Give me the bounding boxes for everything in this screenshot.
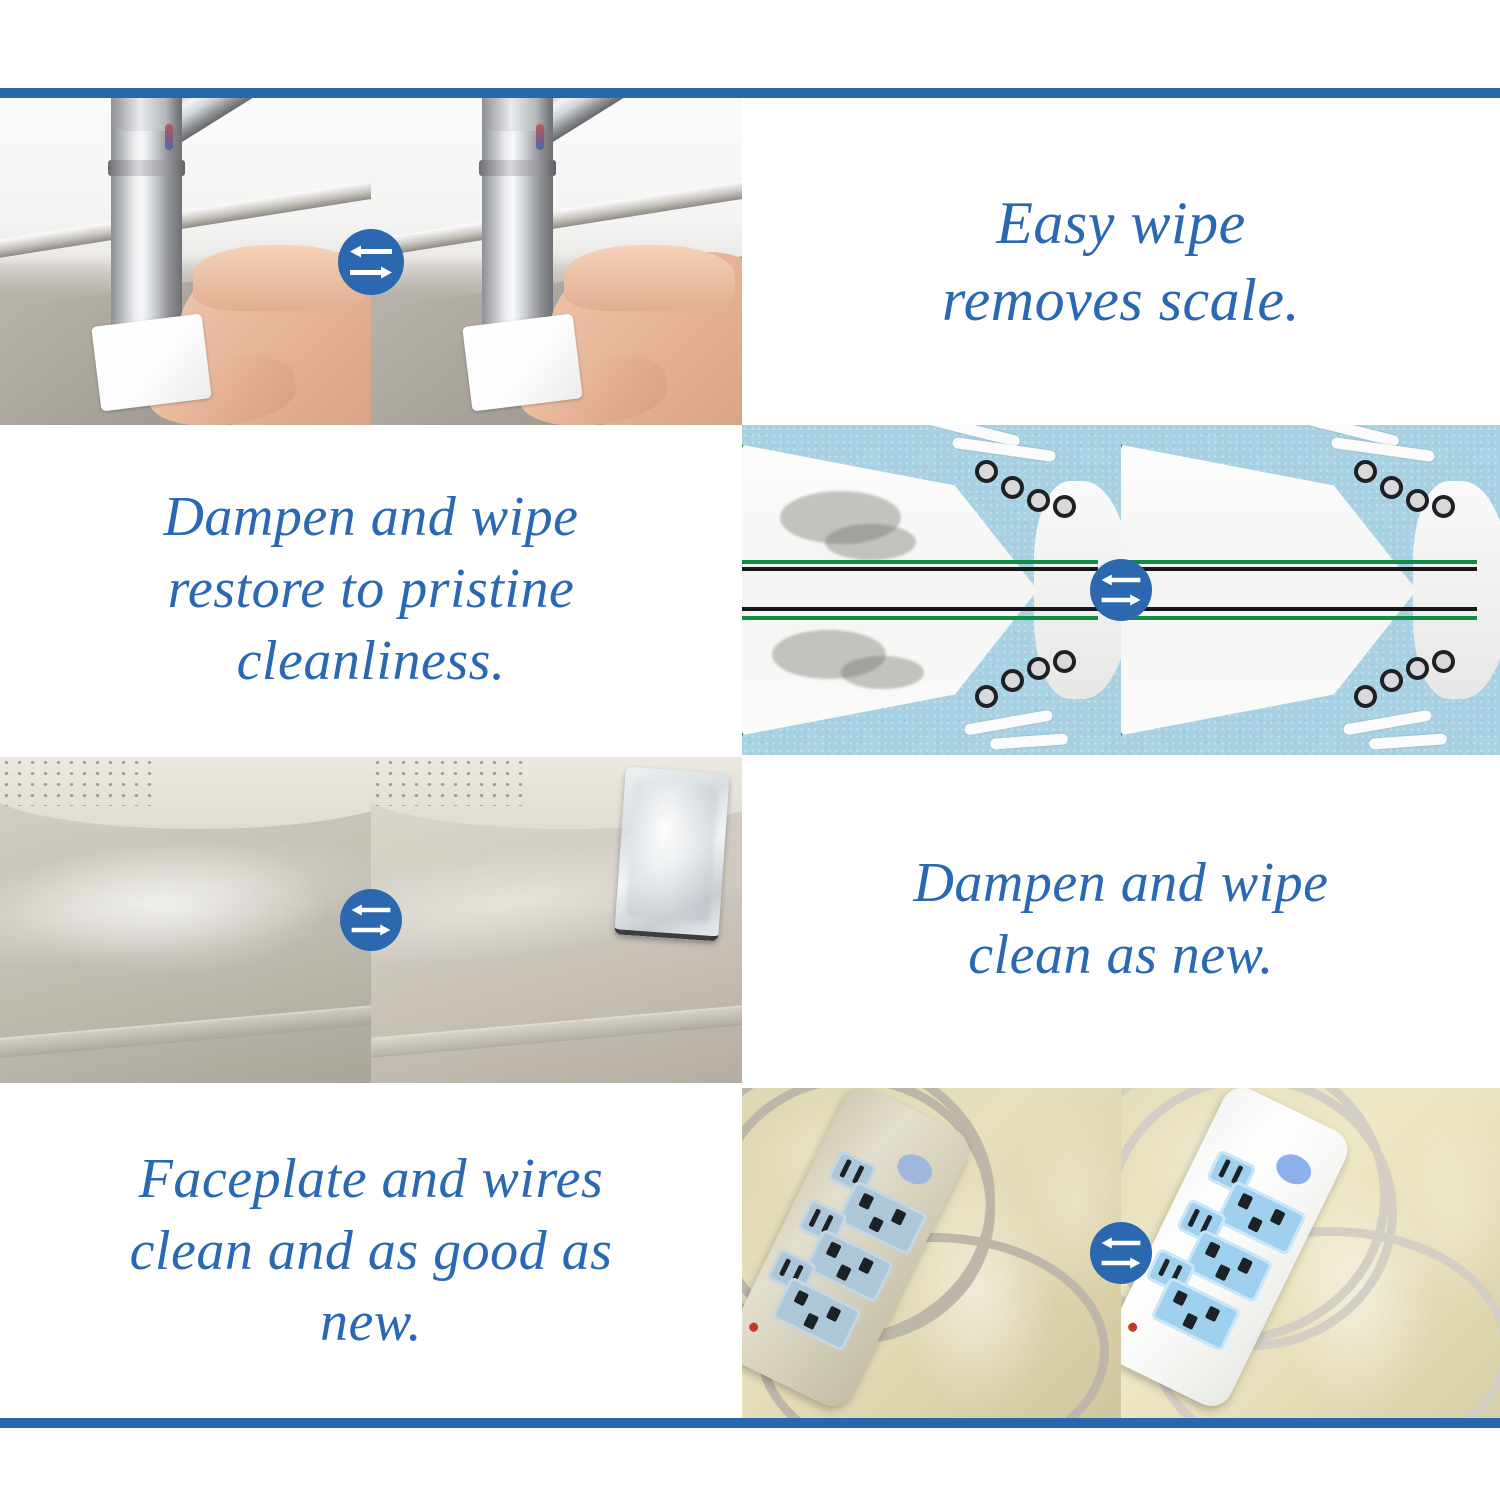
socket-pin — [1188, 1208, 1200, 1227]
leather-demo-photo — [0, 757, 742, 1083]
shoe-eyelet — [1432, 495, 1455, 518]
shoe-eyelet — [975, 460, 998, 483]
shoe-lace — [1368, 733, 1446, 749]
arrow-right-icon — [1101, 594, 1141, 606]
shoe-eyelet — [1354, 685, 1377, 708]
shoe-eyelet — [1380, 669, 1403, 692]
power-indicator-led — [747, 1321, 759, 1333]
socket-pin — [1270, 1208, 1286, 1225]
power-indicator-led — [1126, 1321, 1138, 1333]
shoe-lace — [963, 709, 1053, 735]
shoe-eyelet — [1027, 489, 1050, 512]
socket-pin — [826, 1305, 842, 1322]
caption-line: new. — [0, 1287, 742, 1359]
dampen-clean-caption: Dampen and wipe clean as new. — [742, 757, 1500, 1083]
shoe-eyelet — [1380, 476, 1403, 499]
faceplate-caption: Faceplate and wires clean and as good as… — [0, 1085, 742, 1418]
power-strip-before-half — [742, 1088, 1121, 1418]
sneaker-before-half — [742, 425, 1121, 755]
perforation-pattern — [0, 757, 156, 806]
shoe-eyelet — [1053, 650, 1076, 673]
socket-pin — [835, 1264, 851, 1281]
before-after-swap-badge — [340, 889, 402, 951]
caption-line: Dampen and wipe — [0, 482, 742, 554]
arrow-left-icon — [350, 245, 392, 258]
faucet-temperature-indicator — [165, 124, 173, 150]
bottom-accent-rule — [0, 1418, 1500, 1428]
before-after-swap-badge — [338, 229, 404, 295]
shoe-eyelet — [1027, 657, 1050, 680]
hand-knuckles — [564, 245, 735, 310]
socket-pin — [1237, 1192, 1253, 1209]
shoe-lace-group — [1348, 432, 1492, 749]
melamine-sponge — [463, 314, 584, 412]
perforation-pattern — [371, 757, 527, 806]
arrow-right-icon — [1101, 1257, 1141, 1269]
socket-pin — [1205, 1241, 1221, 1258]
socket-pin — [1205, 1305, 1221, 1322]
sneaker-demo-photo — [742, 425, 1500, 755]
shoe-eyelet — [1001, 669, 1024, 692]
caption-line: Easy wipe — [742, 185, 1500, 262]
arrow-left-icon — [1101, 574, 1141, 586]
scuff-mark — [841, 656, 924, 689]
shoe-lace — [989, 733, 1067, 749]
arrow-left-icon — [351, 904, 391, 916]
infographic-page: Easy wipe removes scale. Dampen and wipe… — [0, 0, 1500, 1500]
socket-pin — [779, 1258, 791, 1277]
socket-pin — [1182, 1312, 1198, 1329]
caption-line: Faceplate and wires — [0, 1144, 742, 1216]
top-accent-rule — [0, 88, 1500, 98]
sneaker-after-half — [1121, 425, 1500, 755]
socket-pin — [1172, 1289, 1188, 1306]
socket-pin — [1158, 1258, 1170, 1277]
socket-pin — [891, 1208, 907, 1225]
shoe-eyelet — [1406, 657, 1429, 680]
power-switch — [893, 1149, 937, 1189]
socket-pin — [793, 1289, 809, 1306]
caption-line: removes scale. — [742, 262, 1500, 339]
faucet-demo-photo — [0, 98, 742, 425]
faucet-before-half — [0, 98, 371, 425]
faucet-temperature-indicator — [536, 124, 544, 150]
faucet-collar — [479, 160, 557, 176]
socket-pin — [1214, 1264, 1230, 1281]
dampen-restore-caption: Dampen and wipe restore to pristine clea… — [0, 425, 742, 755]
shoe-lace — [1342, 709, 1432, 735]
caption-line: cleanliness. — [0, 626, 742, 698]
shoe-eyelet — [1053, 495, 1076, 518]
socket-pin — [1218, 1159, 1230, 1178]
leather-before-half — [0, 757, 371, 1083]
power-strip-demo-photo — [742, 1088, 1500, 1418]
caption-line: Dampen and wipe — [742, 848, 1500, 920]
before-after-swap-badge — [1090, 559, 1152, 621]
socket-pin — [839, 1159, 851, 1178]
socket-pin — [868, 1215, 884, 1232]
before-after-swap-badge — [1090, 1222, 1152, 1284]
caption-line: restore to pristine — [0, 554, 742, 626]
leather-after-half — [371, 757, 742, 1083]
faucet-collar — [108, 160, 186, 176]
socket-pin — [803, 1312, 819, 1329]
arrow-left-icon — [1101, 1237, 1141, 1249]
socket-pin — [858, 1192, 874, 1209]
socket-pin — [809, 1208, 821, 1227]
shoe-eyelet — [1406, 489, 1429, 512]
shoe-eyelet — [975, 685, 998, 708]
caption-line: clean and as good as — [0, 1216, 742, 1288]
shoe-eyelet — [1001, 476, 1024, 499]
socket-pin — [1237, 1257, 1253, 1274]
faucet-after-half — [371, 98, 742, 425]
used-melamine-sponge — [614, 767, 729, 942]
easy-wipe-caption: Easy wipe removes scale. — [742, 98, 1500, 425]
socket-pin — [826, 1241, 842, 1258]
melamine-sponge — [92, 314, 213, 412]
shoe-eyelet — [1432, 650, 1455, 673]
arrow-right-icon — [351, 924, 391, 936]
dull-haze — [0, 829, 352, 979]
socket-pin — [1247, 1215, 1263, 1232]
power-strip-after-half — [1121, 1088, 1500, 1418]
arrow-right-icon — [350, 266, 392, 279]
socket-pin — [858, 1257, 874, 1274]
shoe-eyelet — [1354, 460, 1377, 483]
power-switch — [1272, 1149, 1316, 1189]
caption-line: clean as new. — [742, 920, 1500, 992]
